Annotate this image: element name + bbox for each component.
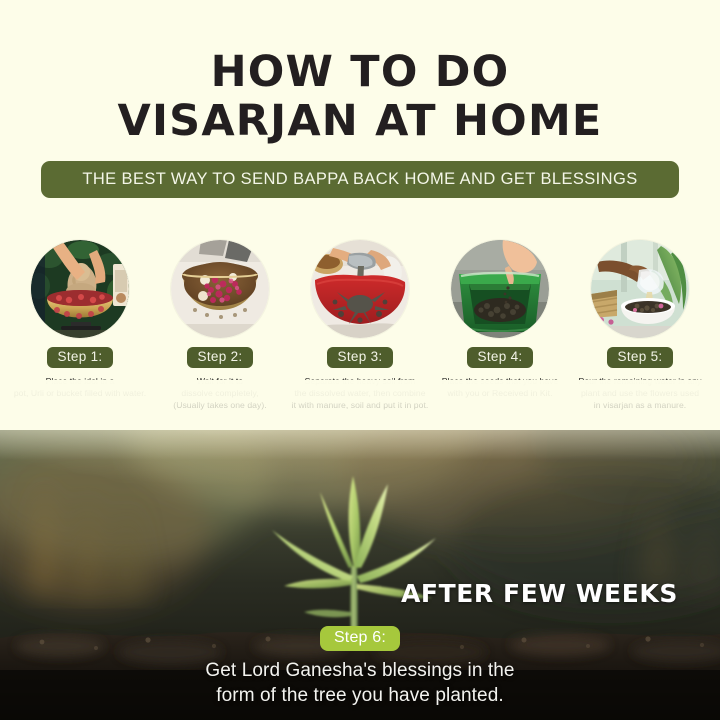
step-item-1: Step 1: Place the idol in a pot, Urli or…	[10, 240, 150, 399]
photo-idol-in-urli	[31, 240, 129, 338]
step-badge-5: Step 5:	[607, 347, 674, 368]
step-caption-3-line-3: it with manure, soil and put it in pot.	[292, 400, 429, 410]
step-caption-2: Wait for it to dissolve completely, (Usu…	[144, 375, 296, 412]
visarjan-infographic-poster: HOW TO DO VISARJAN AT HOME THE BEST WAY …	[0, 0, 720, 720]
step-badge-6: Step 6:	[320, 626, 400, 651]
step-caption-5-line-1: Pour the remaining water in any	[579, 376, 702, 386]
step-caption-6-line-1: Get Lord Ganesha's blessings in the	[0, 659, 720, 684]
step-badge-2: Step 2:	[187, 347, 254, 368]
step-caption-2-line-3: (Usually takes one day).	[173, 400, 266, 410]
title-line-2: VISARJAN AT HOME	[0, 97, 720, 146]
photo-pouring-on-red-cloth	[311, 240, 409, 338]
step-caption-1: Place the idol in a pot, Urli or bucket …	[4, 375, 156, 399]
step-caption-1-line-1: Place the idol in a	[46, 376, 115, 386]
step-caption-4-line-1: Place the seeds that you have	[442, 376, 559, 386]
step-caption-2-line-2: dissolve completely,	[181, 388, 258, 398]
step-item-5: Step 5: Pour the remaining water in any …	[570, 240, 710, 411]
photo-seeds-in-green-container	[451, 240, 549, 338]
step-caption-5: Pour the remaining water in any plant an…	[564, 375, 716, 412]
step-caption-1-line-2: pot, Urli or bucket filled with water.	[14, 388, 146, 398]
header-section: HOW TO DO VISARJAN AT HOME THE BEST WAY …	[0, 0, 720, 430]
step-caption-5-line-2: plant and use the flowers used	[581, 388, 699, 398]
step-badge-3: Step 3:	[327, 347, 394, 368]
step-item-6: Step 6: Get Lord Ganesha's blessings in …	[0, 626, 720, 709]
step-caption-2-line-1: Wait for it to	[197, 376, 243, 386]
step-item-3: Step 3: Separate the heavy soil from the…	[290, 240, 430, 411]
step-caption-4: Place the seeds that you have with you o…	[424, 375, 576, 399]
step-item-4: Step 4: Place the seeds that you have wi…	[430, 240, 570, 399]
subtitle-banner: THE BEST WAY TO SEND BAPPA BACK HOME AND…	[41, 161, 679, 198]
step-caption-3: Separate the heavy soil from the dissolv…	[284, 375, 436, 412]
step-caption-6-line-2: form of the tree you have planted.	[0, 684, 720, 709]
steps-row: Step 1: Place the idol in a pot, Urli or…	[0, 240, 720, 411]
step-caption-3-line-1: Separate the heavy soil from	[305, 376, 416, 386]
step-badge-1: Step 1:	[47, 347, 114, 368]
subtitle-text: THE BEST WAY TO SEND BAPPA BACK HOME AND…	[82, 170, 637, 189]
page-title: HOW TO DO VISARJAN AT HOME	[0, 48, 720, 146]
photo-watering-plant-pot	[591, 240, 689, 338]
step-caption-5-line-3: in visarjan as a manure.	[594, 400, 686, 410]
step-item-2: Step 2: Wait for it to dissolve complete…	[150, 240, 290, 411]
after-few-weeks-label: AFTER FEW WEEKS	[401, 579, 678, 608]
title-line-1: HOW TO DO	[0, 48, 720, 97]
photo-dissolved-urli	[171, 240, 269, 338]
step-caption-3-line-2: the dissolved water, then combine	[294, 388, 425, 398]
step-caption-4-line-2: with you or Received in Kit.	[447, 388, 552, 398]
step-caption-6: Get Lord Ganesha's blessings in the form…	[0, 659, 720, 708]
step-badge-4: Step 4:	[467, 347, 534, 368]
